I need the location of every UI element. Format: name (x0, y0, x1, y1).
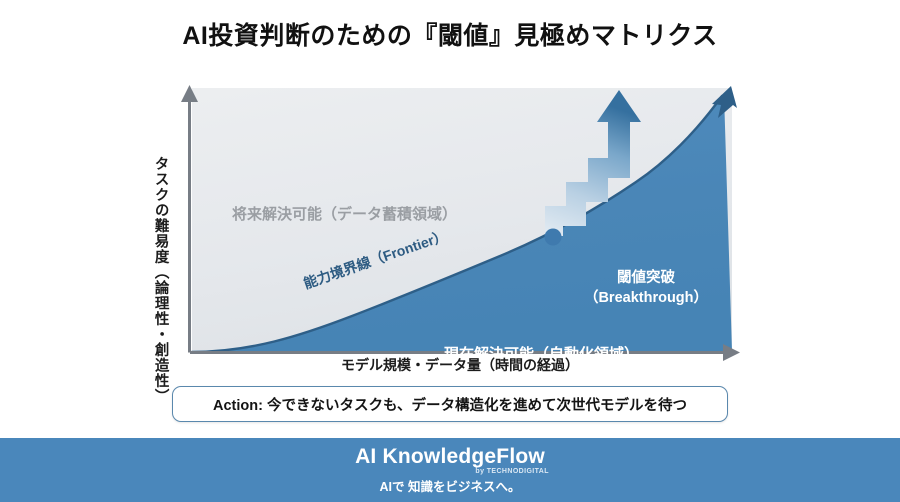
future-zone-label: 将来解決可能（データ蓄積領域） (232, 203, 457, 224)
x-axis-label: モデル規模・データ量（時間の経過） (180, 355, 740, 375)
brand-lockup: AI KnowledgeFlow by TECHNODIGITAL (355, 446, 545, 467)
action-callout-text: Action: 今できないタスクも、データ構造化を進めて次世代モデルを待つ (213, 394, 687, 415)
brand-name: AI KnowledgeFlow (355, 446, 545, 467)
y-axis-label: タスクの難易度（論理性・創造性） (142, 146, 178, 414)
page-title: AI投資判断のための『閾値』見極めマトリクス (0, 16, 900, 52)
brand-tagline: AIで 知識をビジネスへ。 (380, 476, 521, 495)
breakthrough-label-ja: 閾値突破 (562, 269, 730, 289)
threshold-matrix-chart: タスクの難易度（論理性・創造性） 将来解決可能（データ蓄積領域） 能力境界線（F… (0, 60, 900, 380)
action-callout-box: Action: 今できないタスクも、データ構造化を進めて次世代モデルを待つ (172, 386, 728, 422)
breakthrough-point-marker (545, 229, 562, 246)
breakthrough-label-en: （Breakthrough） (562, 289, 730, 309)
brand-byline: by TECHNODIGITAL (475, 468, 549, 475)
footer-band: AI KnowledgeFlow by TECHNODIGITAL AIで 知識… (0, 438, 900, 502)
breakthrough-label: 閾値突破 （Breakthrough） (562, 269, 730, 308)
